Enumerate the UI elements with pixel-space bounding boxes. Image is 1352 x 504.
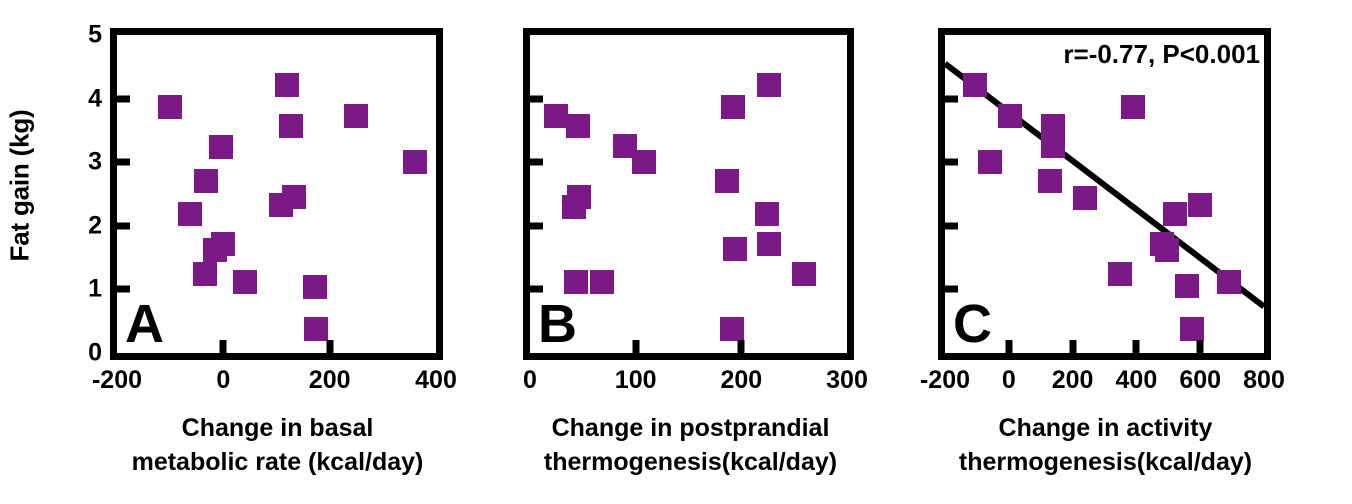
regression-line — [945, 35, 1264, 353]
y-tick-mark — [117, 159, 130, 166]
y-tick-mark — [117, 286, 130, 293]
y-tick-mark — [945, 95, 958, 102]
data-point — [963, 73, 987, 97]
x-tick-label: 300 — [826, 366, 868, 395]
data-point — [792, 262, 816, 286]
x-tick-label: 400 — [415, 366, 457, 395]
correlation-annotation: r=-0.77, P<0.001 — [1063, 39, 1260, 70]
data-point — [1180, 317, 1204, 341]
y-tick-mark — [117, 95, 130, 102]
data-point — [344, 104, 368, 128]
x-tick-label: 800 — [1243, 366, 1285, 395]
data-point — [158, 95, 182, 119]
data-point — [715, 169, 739, 193]
y-tick-label: 5 — [72, 21, 102, 50]
data-point — [303, 275, 327, 299]
data-point — [209, 135, 233, 159]
data-point — [1041, 134, 1065, 158]
x-axis-caption-line2: metabolic rate (kcal/day) — [100, 446, 455, 480]
x-axis-caption-line2: thermogenesis(kcal/day) — [928, 446, 1283, 480]
data-point — [755, 202, 779, 226]
data-point — [203, 238, 227, 262]
plot-inner-c: Cr=-0.77, P<0.001 — [945, 35, 1264, 353]
x-tick-mark — [1197, 340, 1204, 353]
x-tick-label: 600 — [1179, 366, 1221, 395]
x-tick-mark — [220, 340, 227, 353]
data-point — [1217, 270, 1241, 294]
data-point — [757, 232, 781, 256]
data-point — [233, 270, 257, 294]
panel-letter-a: A — [125, 297, 164, 351]
y-axis-label-text: Fat gain (kg) — [5, 109, 36, 261]
data-point — [564, 270, 588, 294]
x-tick-mark — [326, 340, 333, 353]
data-point — [275, 73, 299, 97]
data-point — [590, 270, 614, 294]
data-point — [178, 202, 202, 226]
x-tick-label: 0 — [216, 366, 230, 395]
x-tick-label: 200 — [309, 366, 351, 395]
y-tick-label: 2 — [72, 211, 102, 240]
x-tick-label: 0 — [1002, 366, 1016, 395]
y-axis-label: Fat gain (kg) — [0, 0, 40, 370]
panel-letter-b: B — [538, 297, 577, 351]
y-tick-mark — [530, 222, 543, 229]
data-point — [566, 114, 590, 138]
data-point — [194, 169, 218, 193]
y-tick-label: 1 — [72, 275, 102, 304]
y-tick-mark — [117, 222, 130, 229]
x-axis-caption-a: Change in basalmetabolic rate (kcal/day) — [100, 412, 455, 480]
y-tick-mark — [945, 286, 958, 293]
plot-inner-b: B — [530, 35, 847, 353]
y-tick-mark — [945, 222, 958, 229]
data-point — [723, 237, 747, 261]
x-tick-label: 0 — [523, 366, 537, 395]
y-tick-mark — [530, 286, 543, 293]
x-axis-caption-b: Change in postprandialthermogenesis(kcal… — [513, 412, 868, 480]
data-point — [998, 104, 1022, 128]
data-point — [1188, 193, 1212, 217]
data-point — [721, 95, 745, 119]
data-point — [403, 150, 427, 174]
data-point — [1108, 262, 1132, 286]
data-point — [978, 150, 1002, 174]
y-tick-mark — [530, 95, 543, 102]
x-axis-caption-line1: Change in activity — [928, 412, 1283, 446]
data-point — [269, 193, 293, 217]
data-point — [1163, 202, 1187, 226]
data-point — [1155, 238, 1179, 262]
plot-area-a: A — [110, 28, 443, 360]
y-tick-mark — [945, 159, 958, 166]
x-tick-label: 200 — [720, 366, 762, 395]
data-point — [720, 317, 744, 341]
data-point — [304, 317, 328, 341]
y-tick-label: 0 — [72, 339, 102, 368]
x-tick-mark — [632, 340, 639, 353]
x-tick-label: 400 — [1116, 366, 1158, 395]
data-point — [562, 195, 586, 219]
x-axis-caption-line2: thermogenesis(kcal/day) — [513, 446, 868, 480]
plot-area-b: B — [523, 28, 854, 360]
x-tick-mark — [1133, 340, 1140, 353]
y-tick-mark — [530, 159, 543, 166]
x-tick-label: -200 — [92, 366, 142, 395]
x-axis-caption-line1: Change in postprandial — [513, 412, 868, 446]
x-axis-caption-line1: Change in basal — [100, 412, 455, 446]
y-tick-label: 3 — [72, 148, 102, 177]
data-point — [1121, 95, 1145, 119]
x-axis-caption-c: Change in activitythermogenesis(kcal/day… — [928, 412, 1283, 480]
x-tick-mark — [738, 340, 745, 353]
data-point — [1175, 274, 1199, 298]
panel-letter-c: C — [953, 297, 992, 351]
data-point — [632, 150, 656, 174]
plot-area-c: Cr=-0.77, P<0.001 — [938, 28, 1271, 360]
data-point — [1073, 186, 1097, 210]
plot-inner-a: A — [117, 35, 436, 353]
data-point — [279, 114, 303, 138]
x-tick-mark — [1069, 340, 1076, 353]
x-tick-label: 100 — [615, 366, 657, 395]
figure-root: Fat gain (kg) A012345-2000200400Change i… — [0, 0, 1352, 504]
data-point — [1038, 169, 1062, 193]
x-tick-label: 200 — [1052, 366, 1094, 395]
x-tick-mark — [1005, 340, 1012, 353]
data-point — [193, 262, 217, 286]
y-tick-label: 4 — [72, 84, 102, 113]
data-point — [757, 73, 781, 97]
x-tick-label: -200 — [920, 366, 970, 395]
